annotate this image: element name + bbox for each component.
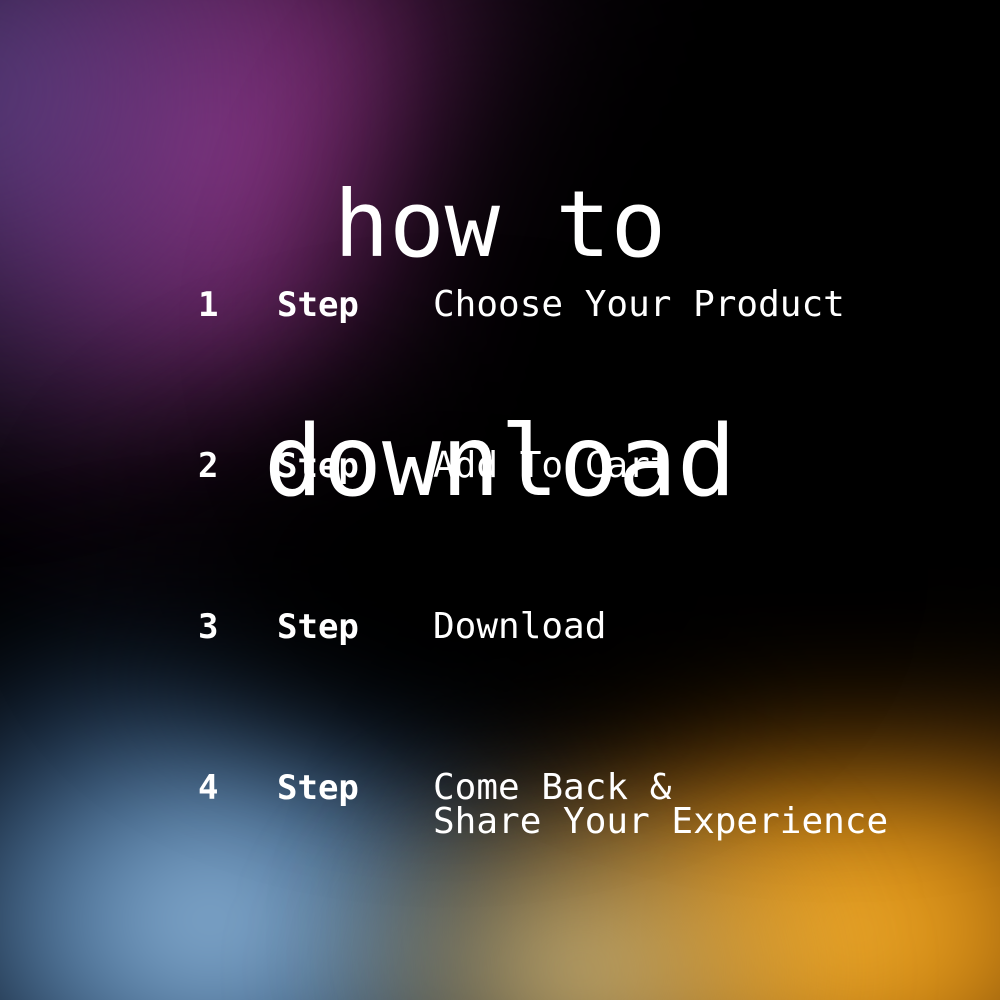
list-item: 3 Step Download [0,610,1000,771]
poster-content: how to download 1 Step Choose Your Produ… [0,0,1000,1000]
page-title-line-1: how to [0,186,1000,264]
step-description-line: Share Your Experience [433,805,888,839]
list-item: 4 Step Come Back &Share Your Experience [0,771,1000,932]
step-description: Download [433,610,606,644]
list-item: 2 Step Add To Cart [0,449,1000,610]
step-description-line: Add To Cart [433,449,671,483]
step-number: 3 [198,610,218,644]
step-description: Choose Your Product [433,288,845,322]
step-label: Step [277,449,359,483]
poster-canvas: how to download 1 Step Choose Your Produ… [0,0,1000,1000]
step-description-line: Come Back & [433,771,888,805]
step-description-line: Choose Your Product [433,288,845,322]
step-description-line: Download [433,610,606,644]
step-label: Step [277,288,359,322]
step-number: 1 [198,288,218,322]
step-label: Step [277,771,359,805]
step-number: 2 [198,449,218,483]
steps-list: 1 Step Choose Your Product 2 Step Add To… [0,288,1000,932]
list-item: 1 Step Choose Your Product [0,288,1000,449]
step-description: Add To Cart [433,449,671,483]
step-label: Step [277,610,359,644]
step-description: Come Back &Share Your Experience [433,771,888,839]
step-number: 4 [198,771,218,805]
